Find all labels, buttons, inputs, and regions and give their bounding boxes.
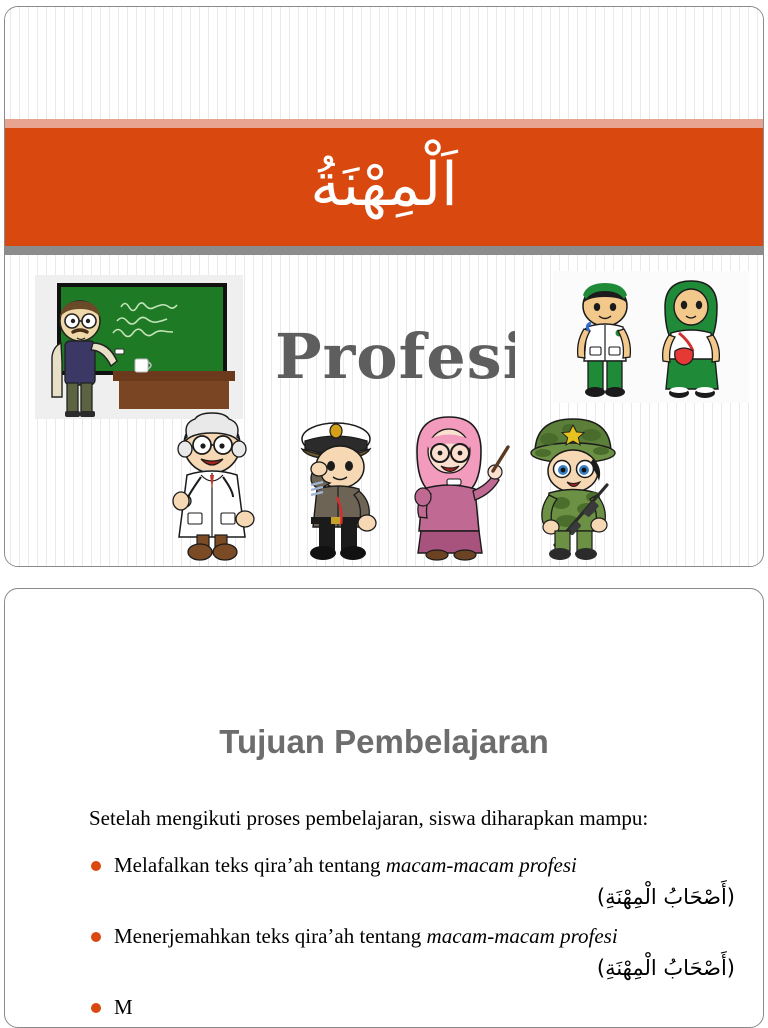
doctor-image <box>157 409 267 561</box>
profesi-wordart-label: Profesi <box>275 317 515 397</box>
band-main: اَلْمِهْنَةُ <box>5 128 763 246</box>
soldier-image <box>523 409 623 561</box>
page-title-arabic: اَلْمِهْنَةُ <box>310 154 458 217</box>
objectives-slide[interactable]: Tujuan Pembelajaran Setelah mengikuti pr… <box>4 588 764 1028</box>
objective-2-emphasis: macam-macam profesi <box>427 924 618 948</box>
objectives-body: Setelah mengikuti proses pembelajaran, s… <box>89 801 735 1028</box>
objective-3-lead: M <box>114 995 133 1019</box>
image-collage: Profesi <box>5 259 764 564</box>
objective-1-arabic: (أَصْحَابُ الْمِهْنَةِ) <box>114 882 735 912</box>
teacher-at-blackboard-image <box>35 275 243 419</box>
profesi-wordart: Profesi <box>275 317 515 397</box>
objective-1-lead: Melafalkan teks qira’ah tentang <box>114 853 386 877</box>
objectives-heading: Tujuan Pembelajaran <box>5 723 763 761</box>
woman-teacher-image <box>407 409 513 561</box>
objective-item-3: M <box>89 991 735 1024</box>
band-bottom-accent-strip <box>5 246 763 255</box>
objectives-intro-text: Setelah mengikuti proses pembelajaran, s… <box>89 801 735 835</box>
students-boy-and-girl-image <box>553 271 749 403</box>
objective-1-emphasis: macam-macam profesi <box>386 853 577 877</box>
band-top-accent-strip <box>5 119 763 128</box>
objective-2-arabic: (أَصْحَابُ الْمِهْنَةِ) <box>114 953 735 983</box>
objective-item-1: Melafalkan teks qira’ah tentang macam-ma… <box>89 849 735 912</box>
objective-item-2: Menerjemahkan teks qira’ah tentang macam… <box>89 920 735 983</box>
title-slide[interactable]: اَلْمِهْنَةُ <box>4 6 764 567</box>
title-band: اَلْمِهْنَةُ <box>5 119 763 255</box>
police-officer-image <box>285 409 387 561</box>
objectives-bullet-list: Melafalkan teks qira’ah tentang macam-ma… <box>89 849 735 1024</box>
objective-2-lead: Menerjemahkan teks qira’ah tentang <box>114 924 427 948</box>
